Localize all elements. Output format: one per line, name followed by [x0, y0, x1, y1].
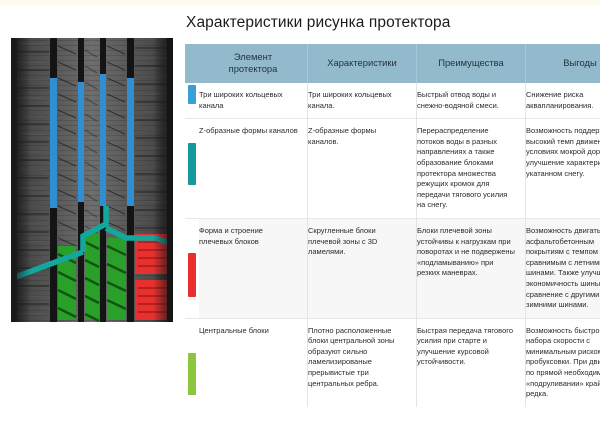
header-marker-column	[185, 44, 199, 83]
sidewall-right	[167, 38, 173, 322]
cell-element: Три широких кольцевых канала	[199, 83, 308, 119]
header-feature: Характеристики	[308, 44, 417, 83]
tread-body	[11, 38, 173, 322]
tire-tread-svg	[5, 38, 179, 322]
row-marker-cell	[185, 83, 199, 119]
cell-feature: Скругленные блоки плечевой зоны с 3D лам…	[308, 218, 417, 318]
cell-feature: Три широких кольцевых канала.	[308, 83, 417, 119]
table-row: Центральные блоки Плотно расположенные б…	[185, 318, 600, 407]
header-element: Элемент протектора	[199, 44, 308, 83]
cell-element: Центральные блоки	[199, 318, 308, 407]
cell-element: Форма и строение плечевых блоков	[199, 218, 308, 318]
header-element-line1: Элемент	[234, 51, 272, 62]
row-marker-cell	[185, 119, 199, 219]
tread-spec-table: Элемент протектора Характеристики Преиму…	[185, 44, 600, 407]
row-marker-cell	[185, 318, 199, 407]
header-benefit: Выгоды	[526, 44, 600, 83]
color-marker	[188, 353, 196, 395]
table-row: Три широких кольцевых канала Три широких…	[185, 83, 600, 119]
cell-benefit: Возможность поддерживать высокий темп дв…	[526, 119, 600, 219]
cell-feature: Плотно расположенные блоки центральной з…	[308, 318, 417, 407]
cell-advantage: Перераспределение потоков воды в разных …	[417, 119, 526, 219]
cell-advantage: Блоки плечевой зоны устойчивы к нагрузка…	[417, 218, 526, 318]
table-header-row: Элемент протектора Характеристики Преиму…	[185, 44, 600, 83]
table-row: Z-образные формы каналов Z-образные форм…	[185, 119, 600, 219]
row-marker-cell	[185, 218, 199, 318]
header-advantage: Преимущества	[417, 44, 526, 83]
sidewall-left	[11, 38, 17, 322]
tire-tread-image	[5, 38, 179, 322]
table-body: Три широких кольцевых канала Три широких…	[185, 83, 600, 407]
spec-table-container: Элемент протектора Характеристики Преиму…	[185, 44, 599, 407]
cell-benefit: Снижение риска аквапланирования.	[526, 83, 600, 119]
cell-feature: Z-образные формы каналов.	[308, 119, 417, 219]
table-head: Элемент протектора Характеристики Преиму…	[185, 44, 600, 83]
cell-advantage: Быстрый отвод воды и снежно-водяной смес…	[417, 83, 526, 119]
color-marker	[188, 85, 196, 104]
central-blocks-highlight	[58, 234, 126, 321]
cell-advantage: Быстрая передача тягового усилия при ста…	[417, 318, 526, 407]
color-marker	[188, 253, 196, 297]
cell-benefit: Возможность быстрого набора скорости с м…	[526, 318, 600, 407]
cell-element: Z-образные формы каналов	[199, 119, 308, 219]
header-element-line2: протектора	[229, 63, 278, 74]
cell-benefit: Возможность двигаться по асфальтобетонны…	[526, 218, 600, 318]
page-title: Характеристики рисунка протектора	[186, 14, 451, 32]
content-panel: Характеристики рисунка протектора Элемен…	[185, 0, 600, 421]
color-marker	[188, 143, 196, 185]
table-row: Форма и строение плечевых блоков Скругле…	[185, 218, 600, 318]
